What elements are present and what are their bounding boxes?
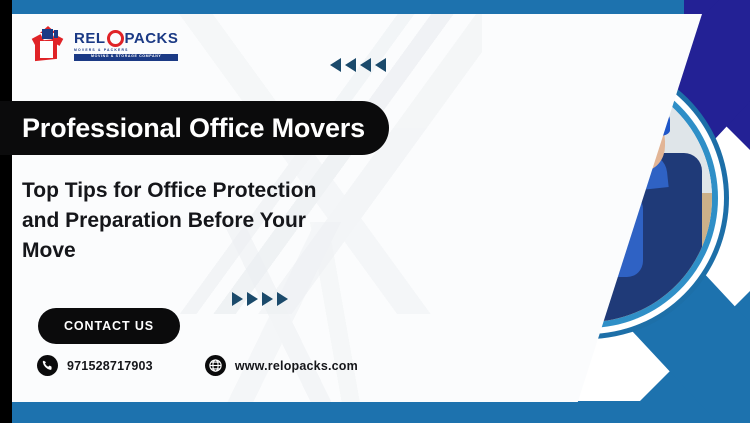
logo-o-ring-icon	[107, 30, 124, 47]
top-blue-bar	[8, 0, 684, 14]
triangle-right-icon	[277, 292, 288, 306]
globe-icon	[205, 355, 226, 376]
triangle-right-icon	[262, 292, 273, 306]
page-title: Professional Office Movers	[22, 113, 365, 144]
triangle-right-icon	[232, 292, 243, 306]
headline-pill: Professional Office Movers	[0, 101, 389, 155]
logo-company-bar: MOVING & STORAGE COMPANY	[74, 54, 178, 61]
triangle-left-icon	[345, 58, 356, 72]
open-box-house-icon	[33, 28, 69, 62]
subheadline: Top Tips for Office Protection and Prepa…	[22, 176, 382, 266]
arrows-left-group	[330, 58, 386, 72]
website-url: www.relopacks.com	[235, 359, 358, 373]
logo-wordmark: REL PACKS MOVERS & PACKERS MOVING & STOR…	[74, 30, 178, 61]
arrows-right-group	[232, 292, 288, 306]
logo-word-first: REL	[74, 31, 106, 46]
phone-number: 971528717903	[67, 359, 153, 373]
left-black-edge	[0, 0, 12, 423]
triangle-left-icon	[360, 58, 371, 72]
subheadline-line-3: Move	[22, 236, 382, 266]
brand-logo[interactable]: REL PACKS MOVERS & PACKERS MOVING & STOR…	[33, 28, 178, 62]
triangle-left-icon	[330, 58, 341, 72]
logo-tagline: MOVERS & PACKERS	[74, 49, 178, 52]
phone-contact[interactable]: 971528717903	[37, 355, 153, 376]
triangle-left-icon	[375, 58, 386, 72]
subheadline-line-2: and Preparation Before Your	[22, 206, 382, 236]
website-contact[interactable]: www.relopacks.com	[205, 355, 358, 376]
contact-us-button[interactable]: CONTACT US	[38, 308, 180, 344]
bottom-blue-bar	[0, 401, 690, 423]
logo-word-second: PACKS	[125, 31, 179, 46]
promo-banner: REL PACKS MOVERS & PACKERS MOVING & STOR…	[0, 0, 750, 423]
contact-bar: 971528717903 www.relopacks.com	[37, 355, 358, 376]
phone-icon	[37, 355, 58, 376]
subheadline-line-1: Top Tips for Office Protection	[22, 176, 382, 206]
triangle-right-icon	[247, 292, 258, 306]
